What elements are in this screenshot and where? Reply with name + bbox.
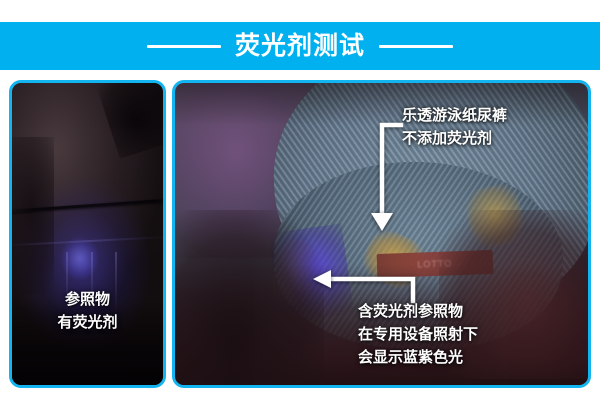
banner-right-rule	[379, 45, 453, 48]
product-photo-caption: 乐透游泳纸尿裤 不添加荧光剂	[402, 105, 507, 151]
reference-photo-shadow-left	[12, 137, 54, 294]
product-photo-top-shade	[175, 83, 588, 125]
fluorescent-caption-line-2: 在专用设备照射下	[358, 324, 478, 347]
reference-photo-image	[12, 83, 163, 385]
fluorescent-caption-line-3: 会显示蓝紫色光	[358, 347, 478, 370]
comparison-panels: 参照物 有荧光剂 LOTTO	[0, 79, 600, 391]
fluorescent-reference-caption: 含荧光剂参照物 在专用设备照射下 会显示蓝紫色光	[358, 301, 478, 369]
reference-caption-line-2: 有荧光剂	[12, 312, 163, 335]
banner-left-rule	[147, 45, 221, 48]
reference-caption-line-1: 参照物	[12, 289, 163, 312]
product-photo-left-shade	[175, 210, 324, 385]
reference-photo-panel: 参照物 有荧光剂	[9, 80, 166, 388]
product-caption-line-1: 乐透游泳纸尿裤	[402, 105, 507, 128]
product-caption-line-2: 不添加荧光剂	[402, 128, 507, 151]
fluorescent-caption-line-1: 含荧光剂参照物	[358, 301, 478, 324]
page-header-banner: 荧光剂测试	[0, 22, 600, 70]
product-photo-panel: LOTTO 乐透游泳纸尿裤 不添加荧光剂 含荧光剂参照物 在专用设备照射下 会	[172, 80, 591, 388]
page-title: 荧光剂测试	[235, 34, 365, 59]
reference-photo-caption: 参照物 有荧光剂	[12, 289, 163, 335]
